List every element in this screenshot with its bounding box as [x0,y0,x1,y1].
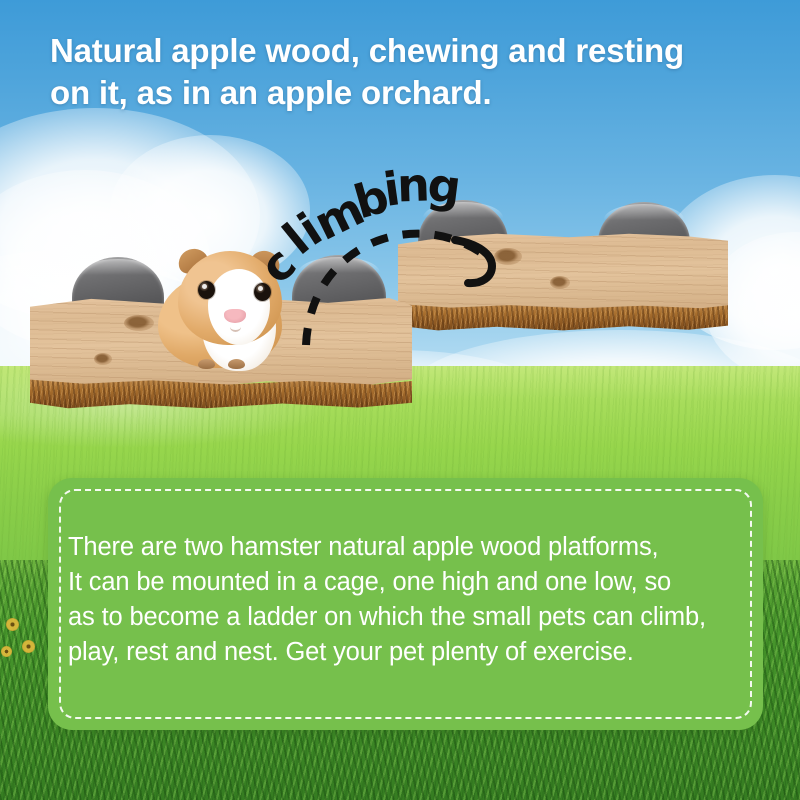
description-text: There are two hamster natural apple wood… [68,530,743,670]
pig-foot-right [228,359,245,369]
climbing-letter: g [425,161,463,211]
product-feature-image: c l i m b i n g Natural apple wood, chew… [0,0,800,800]
description-line-2: It can be mounted in a cage, one high an… [68,565,743,600]
wood-knot [94,353,112,365]
description-line-3: as to become a ladder on which the small… [68,600,743,635]
pig-mouth [230,322,241,332]
pig-eye-left [198,281,215,299]
climbing-annotation: c l i m b i n g [258,150,578,300]
flower-icon [1,646,12,657]
page-title: Natural apple wood, chewing and resting … [50,30,770,113]
description-line-4: play, rest and nest. Get your pet plenty… [68,635,743,670]
flower-icon [6,618,19,631]
platform-bark-edge [30,379,412,413]
headline-line-2: on it, as in an apple orchard. [50,72,770,114]
description-line-1: There are two hamster natural apple wood… [68,530,743,565]
flower-icon [22,640,35,653]
headline-line-1: Natural apple wood, chewing and resting [50,30,770,72]
pig-foot-left [198,359,215,369]
platform-bark-edge [398,304,728,334]
description-card: There are two hamster natural apple wood… [48,478,763,730]
